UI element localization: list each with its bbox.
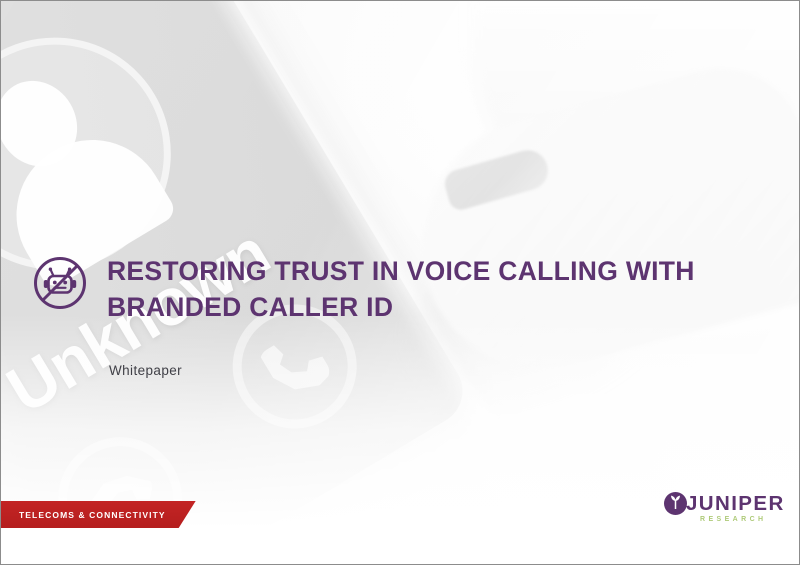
title-line-1: RESTORING TRUST IN VOICE CALLING WITH [107, 253, 707, 289]
title-line-2: BRANDED CALLER ID [107, 289, 707, 325]
juniper-sprig-icon [670, 495, 681, 509]
juniper-research-logo: JUNIPER RESEARCH [664, 490, 782, 530]
page-title: RESTORING TRUST IN VOICE CALLING WITH BR… [107, 253, 707, 326]
category-ribbon-label: TELECOMS & CONNECTIVITY [19, 510, 166, 520]
logo-wordmark: JUNIPER [686, 494, 785, 515]
cover-content: RESTORING TRUST IN VOICE CALLING WITH BR… [1, 1, 799, 564]
no-robocall-icon [32, 255, 88, 311]
whitepaper-cover-page: Incoming Call Unknown [0, 0, 800, 565]
logo-sub-wordmark: RESEARCH [700, 516, 766, 523]
document-type-label: Whitepaper [109, 363, 182, 378]
category-ribbon: TELECOMS & CONNECTIVITY [1, 501, 196, 528]
